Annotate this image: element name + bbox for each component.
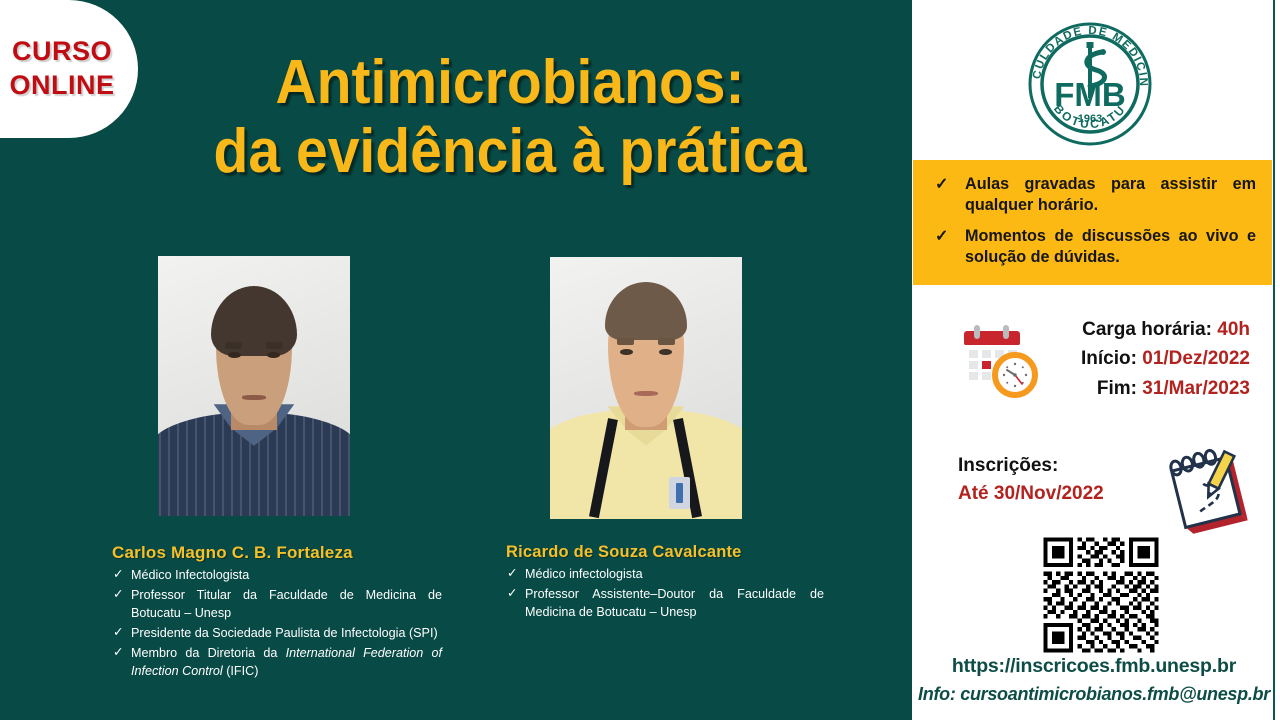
registration-block: Inscrições: Até 30/Nov/2022 xyxy=(958,452,1158,507)
start-date-line: Início: 01/Dez/2022 xyxy=(1050,344,1250,373)
presenter-bio-item: ✓ Médico infectologista xyxy=(506,565,824,584)
notepad-pencil-svg xyxy=(1156,447,1260,539)
presenter-bio-item: ✓ Membro da Diretoria da International F… xyxy=(112,644,442,681)
end-value: 31/Mar/2023 xyxy=(1142,378,1250,399)
badge-line-online: ONLINE xyxy=(9,69,114,103)
presenter-bio-item: ✓ Professor Assistente–Doutor da Faculda… xyxy=(506,585,824,622)
photo-eye-left xyxy=(620,349,632,355)
schedule-block: Carga horária: 40h Início: 01/Dez/2022 F… xyxy=(950,315,1250,415)
workload-value: 40h xyxy=(1217,319,1250,340)
sidebar-edge-line xyxy=(1273,0,1275,720)
calendar-clock-icon xyxy=(958,321,1044,401)
badge-line-curso: CURSO xyxy=(12,35,112,69)
contact-email[interactable]: Info: cursoantimicrobianos.fmb@unesp.br xyxy=(913,681,1275,708)
calendar-clock-svg xyxy=(958,321,1044,401)
photo-eyebrow-right xyxy=(658,338,675,344)
presenter-bio-item: ✓ Presidente da Sociedade Paulista de In… xyxy=(112,624,442,643)
feature-text: Momentos de discussões ao vivo e solução… xyxy=(965,227,1256,266)
title-line-1: Antimicrobianos: xyxy=(160,48,859,117)
check-icon: ✓ xyxy=(113,643,123,662)
curso-online-badge: CURSO ONLINE xyxy=(0,0,138,138)
end-date-line: Fim: 31/Mar/2023 xyxy=(1050,374,1250,403)
title-line-2: da evidência à prática xyxy=(160,117,859,186)
fmb-logo-svg: FACULDADE DE MEDICINA BOTUCATU FMB 1963 xyxy=(1018,14,1163,150)
svg-text:1963: 1963 xyxy=(1078,113,1102,125)
photo-mouth xyxy=(242,395,265,400)
presenter-bio-item: ✓ Médico Infectologista xyxy=(112,566,442,585)
photo-mouth xyxy=(634,391,657,396)
bio-text: Médico infectologista xyxy=(525,567,643,581)
svg-text:FMB: FMB xyxy=(1054,76,1125,113)
bio-text: Presidente da Sociedade Paulista de Infe… xyxy=(131,626,438,640)
photo-eye-right xyxy=(659,349,671,355)
check-icon: ✓ xyxy=(113,623,123,642)
bio-text-pre: Membro da Diretoria da xyxy=(131,646,286,660)
workload-label: Carga horária: xyxy=(1082,319,1212,340)
photo-eyebrow-left xyxy=(225,342,242,349)
presenter-bio-item: ✓ Professor Titular da Faculdade de Medi… xyxy=(112,586,442,623)
presenter-photo-ricardo xyxy=(550,257,742,519)
check-icon: ✓ xyxy=(113,585,123,604)
check-icon: ✓ xyxy=(507,584,517,603)
presenter-block-ricardo: Ricardo de Souza Cavalcante ✓ Médico inf… xyxy=(506,543,824,623)
start-label: Início: xyxy=(1081,348,1137,369)
fmb-logo: FACULDADE DE MEDICINA BOTUCATU FMB 1963 xyxy=(1018,14,1163,150)
bio-text: Professor Assistente–Doutor da Faculdade… xyxy=(525,587,824,620)
presenter-photo-carlos xyxy=(158,256,350,516)
contact-links: https://inscricoes.fmb.unesp.br Info: cu… xyxy=(913,652,1275,708)
poster-title: Antimicrobianos: da evidência à prática xyxy=(130,48,890,187)
photo-eyebrow-right xyxy=(266,342,283,349)
qr-code[interactable] xyxy=(1039,533,1163,657)
notepad-pencil-icon xyxy=(1156,447,1260,539)
qr-code-svg[interactable] xyxy=(1039,533,1163,657)
registration-url[interactable]: https://inscricoes.fmb.unesp.br xyxy=(913,652,1275,681)
feature-text: Aulas gravadas para assistir em qualquer… xyxy=(965,175,1256,214)
poster-root: CURSO ONLINE Antimicrobianos: da evidênc… xyxy=(0,0,1280,720)
bio-text: Professor Titular da Faculdade de Medici… xyxy=(131,588,442,621)
bio-text: Médico Infectologista xyxy=(131,568,249,582)
schedule-text: Carga horária: 40h Início: 01/Dez/2022 F… xyxy=(1050,315,1250,403)
end-label: Fim: xyxy=(1097,378,1137,399)
photo-eyebrow-left xyxy=(617,338,634,344)
check-icon: ✓ xyxy=(935,226,948,247)
check-icon: ✓ xyxy=(113,565,123,584)
registration-deadline: Até 30/Nov/2022 xyxy=(958,480,1158,508)
photo-id-badge xyxy=(669,477,690,508)
presenter-name: Carlos Magno C. B. Fortaleza xyxy=(112,543,442,563)
registration-label: Inscrições: xyxy=(958,452,1158,480)
check-icon: ✓ xyxy=(935,174,948,195)
start-value: 01/Dez/2022 xyxy=(1142,348,1250,369)
presenter-block-carlos: Carlos Magno C. B. Fortaleza ✓ Médico In… xyxy=(112,543,442,682)
feature-item: ✓ Aulas gravadas para assistir em qualqu… xyxy=(925,174,1256,217)
features-box: ✓ Aulas gravadas para assistir em qualqu… xyxy=(913,160,1272,285)
check-icon: ✓ xyxy=(507,564,517,583)
feature-item: ✓ Momentos de discussões ao vivo e soluç… xyxy=(925,226,1256,269)
workload-line: Carga horária: 40h xyxy=(1050,315,1250,344)
presenter-name: Ricardo de Souza Cavalcante xyxy=(506,543,824,562)
bio-text-post: (IFIC) xyxy=(223,664,259,678)
